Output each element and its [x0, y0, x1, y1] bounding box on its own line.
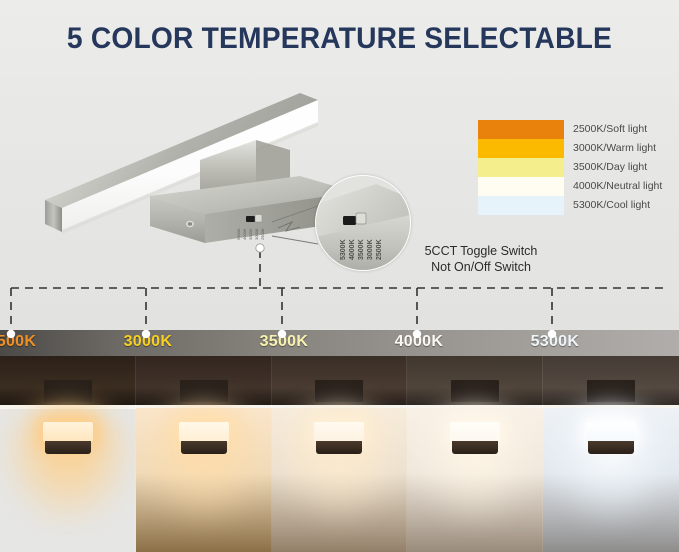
fixture-body	[452, 441, 498, 454]
fixture-lit-diffuser	[43, 422, 93, 442]
infographic-page: 5 COLOR TEMPERATURE SELECTABLE	[0, 0, 679, 552]
fixture-silhouette	[587, 380, 635, 402]
photo-lit-area	[407, 408, 543, 552]
photo-dark-area	[136, 356, 272, 408]
fixture-silhouette	[180, 380, 228, 402]
fixture-lit-diffuser	[586, 422, 636, 442]
legend-label-3500k: 3500K/Day light	[573, 158, 647, 177]
photo-panel-3500k	[272, 356, 408, 552]
svg-text:5300K: 5300K	[236, 228, 241, 240]
fixture-body	[316, 441, 362, 454]
legend-item: 5300K/Cool light	[478, 196, 674, 215]
legend-label-3000k: 3000K/Warm light	[573, 139, 656, 158]
photo-panel-5300k	[543, 356, 679, 552]
photo-lit-area	[272, 408, 408, 552]
svg-text:3000K: 3000K	[254, 228, 259, 240]
photo-lit-area	[136, 408, 272, 552]
dashed-connector-bracket	[0, 240, 679, 335]
legend-item: 3500K/Day light	[478, 158, 674, 177]
legend-swatch-4000k	[478, 177, 564, 196]
legend-label-5300k: 5300K/Cool light	[573, 196, 650, 215]
legend-item: 2500K/Soft light	[478, 120, 674, 139]
photo-dark-area	[543, 356, 679, 408]
legend-label-2500k: 2500K/Soft light	[573, 120, 647, 139]
legend-swatch-3500k	[478, 158, 564, 177]
photo-lit-area	[543, 408, 679, 552]
svg-text:2500K: 2500K	[260, 228, 265, 240]
fixture-lit-diffuser	[450, 422, 500, 442]
photo-dark-area	[407, 356, 543, 408]
photo-panel-3000k	[136, 356, 272, 552]
photo-lit-area	[0, 408, 136, 552]
legend-swatch-5300k	[478, 196, 564, 215]
fixture-body	[181, 441, 227, 454]
photo-dark-area	[272, 356, 408, 408]
fixture-lit-diffuser	[179, 422, 229, 442]
svg-text:4000K: 4000K	[242, 228, 247, 240]
fixture-silhouette	[315, 380, 363, 402]
legend-swatch-2500k	[478, 120, 564, 139]
fixture-silhouette	[451, 380, 499, 402]
photo-panel-2500k	[0, 356, 136, 552]
legend-item: 4000K/Neutral light	[478, 177, 674, 196]
photo-panel-4000k	[407, 356, 543, 552]
fixture-body	[588, 441, 634, 454]
fixture-silhouette	[44, 380, 92, 402]
photo-dark-area	[0, 356, 136, 408]
svg-text:3500K: 3500K	[248, 228, 253, 240]
fixture-lit-diffuser	[314, 422, 364, 442]
legend-item: 3000K/Warm light	[478, 139, 674, 158]
legend-swatch-3000k	[478, 139, 564, 158]
light-temperature-photo-strip	[0, 356, 679, 552]
legend-label-4000k: 4000K/Neutral light	[573, 177, 662, 196]
color-temperature-legend: 2500K/Soft light 3000K/Warm light 3500K/…	[478, 120, 674, 215]
temperature-dot-markers	[0, 326, 679, 340]
fixture-body	[45, 441, 91, 454]
